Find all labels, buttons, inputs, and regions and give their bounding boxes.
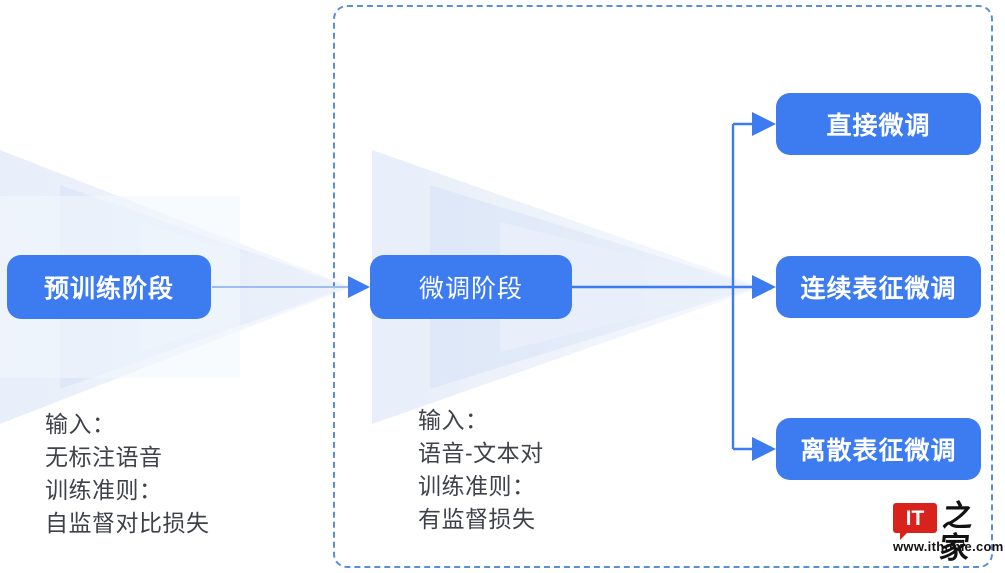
- caption-finetune: 输入： 语音-文本对 训练准则： 有监督损失: [418, 404, 544, 536]
- node-continuous-representation-finetune[interactable]: 连续表征微调: [776, 256, 981, 318]
- node-finetune-stage[interactable]: 微调阶段: [370, 255, 572, 319]
- node-pretrain-stage[interactable]: 预训练阶段: [7, 255, 211, 319]
- watermark-ithome: IT 之家 www.ithome.com: [893, 503, 993, 561]
- watermark-url: www.ithome.com: [893, 539, 1004, 554]
- ithome-logo-icon: IT: [893, 503, 937, 533]
- diagram-canvas: 预训练阶段 微调阶段 直接微调 连续表征微调 离散表征微调 输入： 无标注语音 …: [0, 0, 1005, 573]
- node-direct-finetune[interactable]: 直接微调: [776, 93, 981, 155]
- caption-pretrain: 输入： 无标注语音 训练准则： 自监督对比损失: [45, 408, 210, 540]
- node-discrete-representation-finetune[interactable]: 离散表征微调: [776, 418, 981, 480]
- watermark-brand-cn: 之家: [938, 501, 997, 565]
- watermark-badge-text: IT: [906, 508, 925, 529]
